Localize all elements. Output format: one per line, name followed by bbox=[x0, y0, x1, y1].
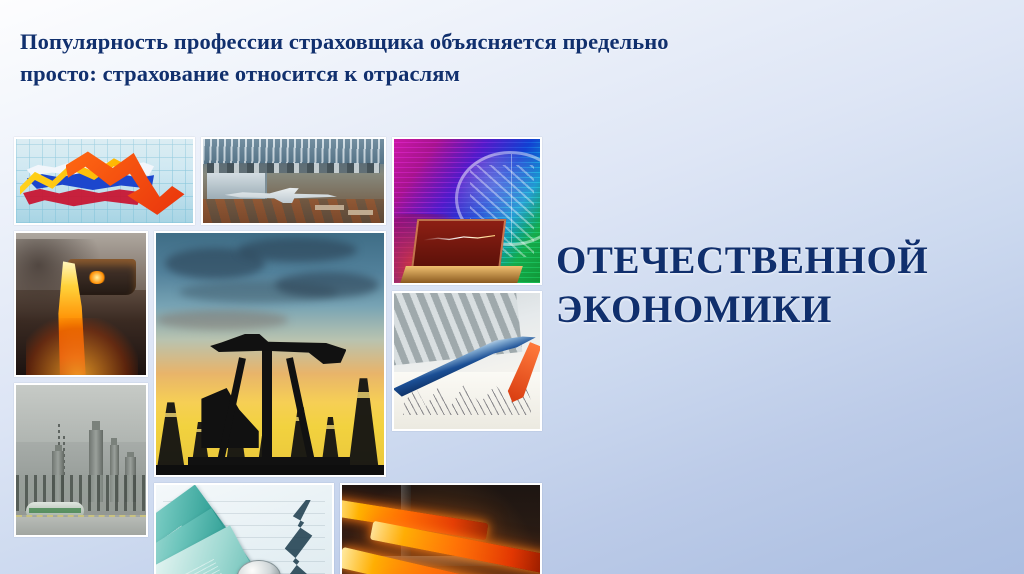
collage-image-hot-steel-rolling-mill bbox=[340, 483, 542, 574]
collage-image-oil-pumpjack-sunset bbox=[154, 231, 386, 477]
sky-cloud bbox=[275, 272, 380, 299]
slide-title-line-2: просто: страхование относится к отраслям bbox=[20, 58, 985, 90]
aircraft-hangar-graphic bbox=[203, 139, 384, 223]
refinery-graphic bbox=[16, 385, 146, 535]
hangar-crate bbox=[315, 205, 344, 211]
laptop-with-stock-chart bbox=[411, 219, 506, 272]
oil-pumpjack-graphic bbox=[156, 233, 384, 475]
collage-image-russia-map-declining-chart bbox=[14, 137, 195, 225]
document-signing-graphic bbox=[394, 293, 540, 429]
russia-map-chart-graphic bbox=[16, 139, 193, 223]
slide-headline-line-2: ЭКОНОМИКИ bbox=[556, 285, 996, 334]
presentation-slide: Популярность профессии страховщика объяс… bbox=[0, 0, 1024, 574]
hangar-roof bbox=[203, 139, 384, 164]
pumpjack-walking-beam bbox=[201, 334, 346, 364]
financial-market-graphic bbox=[394, 139, 540, 283]
pumpjack-silhouette bbox=[188, 325, 357, 475]
map-band-red bbox=[23, 188, 143, 208]
collage-image-pen-signing-document bbox=[392, 291, 542, 431]
slide-title: Популярность профессии страховщика объяс… bbox=[20, 26, 985, 90]
slide-title-line-1: Популярность профессии страховщика объяс… bbox=[20, 26, 985, 58]
collage-image-financial-market-abstract bbox=[392, 137, 542, 285]
calculator-keypad bbox=[392, 291, 523, 365]
refinery-roadway bbox=[16, 515, 146, 535]
pumpjack-leg bbox=[286, 357, 317, 473]
pumpjack-post bbox=[262, 343, 272, 475]
steel-mill-graphic bbox=[342, 485, 540, 574]
ground-line bbox=[156, 465, 384, 475]
slide-headline-line-1: ОТЕЧЕСТВЕННОЙ bbox=[556, 236, 996, 285]
hangar-crate bbox=[348, 210, 373, 215]
sky-cloud bbox=[238, 238, 357, 262]
laptop-base bbox=[400, 266, 522, 283]
heat-haze bbox=[342, 485, 540, 574]
money-on-chart-graphic bbox=[156, 485, 332, 574]
collage-image-aircraft-assembly-hangar bbox=[201, 137, 386, 225]
image-collage bbox=[14, 137, 542, 537]
derrick-tower bbox=[156, 402, 186, 475]
molten-metal-graphic bbox=[16, 233, 146, 375]
slide-headline: ОТЕЧЕСТВЕННОЙ ЭКОНОМИКИ bbox=[556, 236, 996, 334]
collage-image-banknotes-and-coins bbox=[154, 483, 334, 574]
molten-glow bbox=[26, 318, 138, 377]
collage-image-molten-metal-pour bbox=[14, 231, 148, 377]
collage-image-oil-refinery-plant bbox=[14, 383, 148, 537]
refinery-sky bbox=[16, 385, 146, 442]
